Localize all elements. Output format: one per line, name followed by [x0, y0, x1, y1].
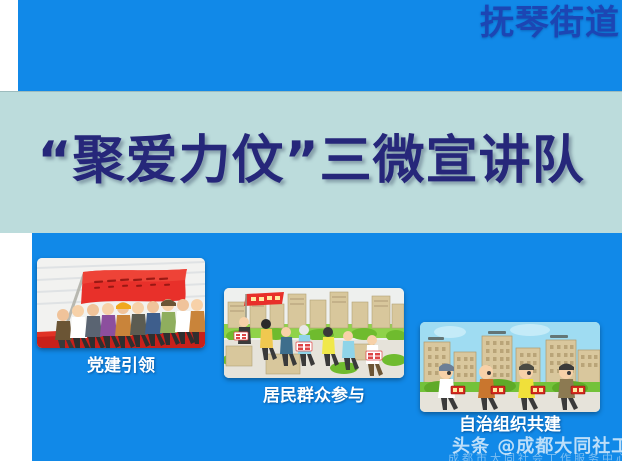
slide-canvas: 抚琴街道 “聚爱力伩”三微宣讲队	[0, 0, 622, 466]
self-governance-organization-illustration	[420, 322, 600, 412]
title-band: “聚爱力伩”三微宣讲队	[0, 91, 622, 234]
image-card-party-building[interactable]	[37, 258, 205, 348]
party-flag-crowd-illustration	[37, 258, 205, 348]
image-card-self-governance[interactable]	[420, 322, 600, 412]
page-title: “聚爱力伩”三微宣讲队	[0, 128, 622, 194]
image-card-caption-resident-participation: 居民群众参与	[224, 385, 404, 407]
background-white-bottom-strip	[0, 461, 622, 466]
background-white-left-top	[0, 0, 18, 91]
community-residents-illustration	[224, 288, 404, 378]
background-white-left-bottom	[0, 233, 32, 466]
brand-title: 抚琴街道	[480, 2, 620, 44]
image-card-resident-participation[interactable]	[224, 288, 404, 378]
image-card-caption-party-building: 党建引领	[37, 355, 205, 377]
